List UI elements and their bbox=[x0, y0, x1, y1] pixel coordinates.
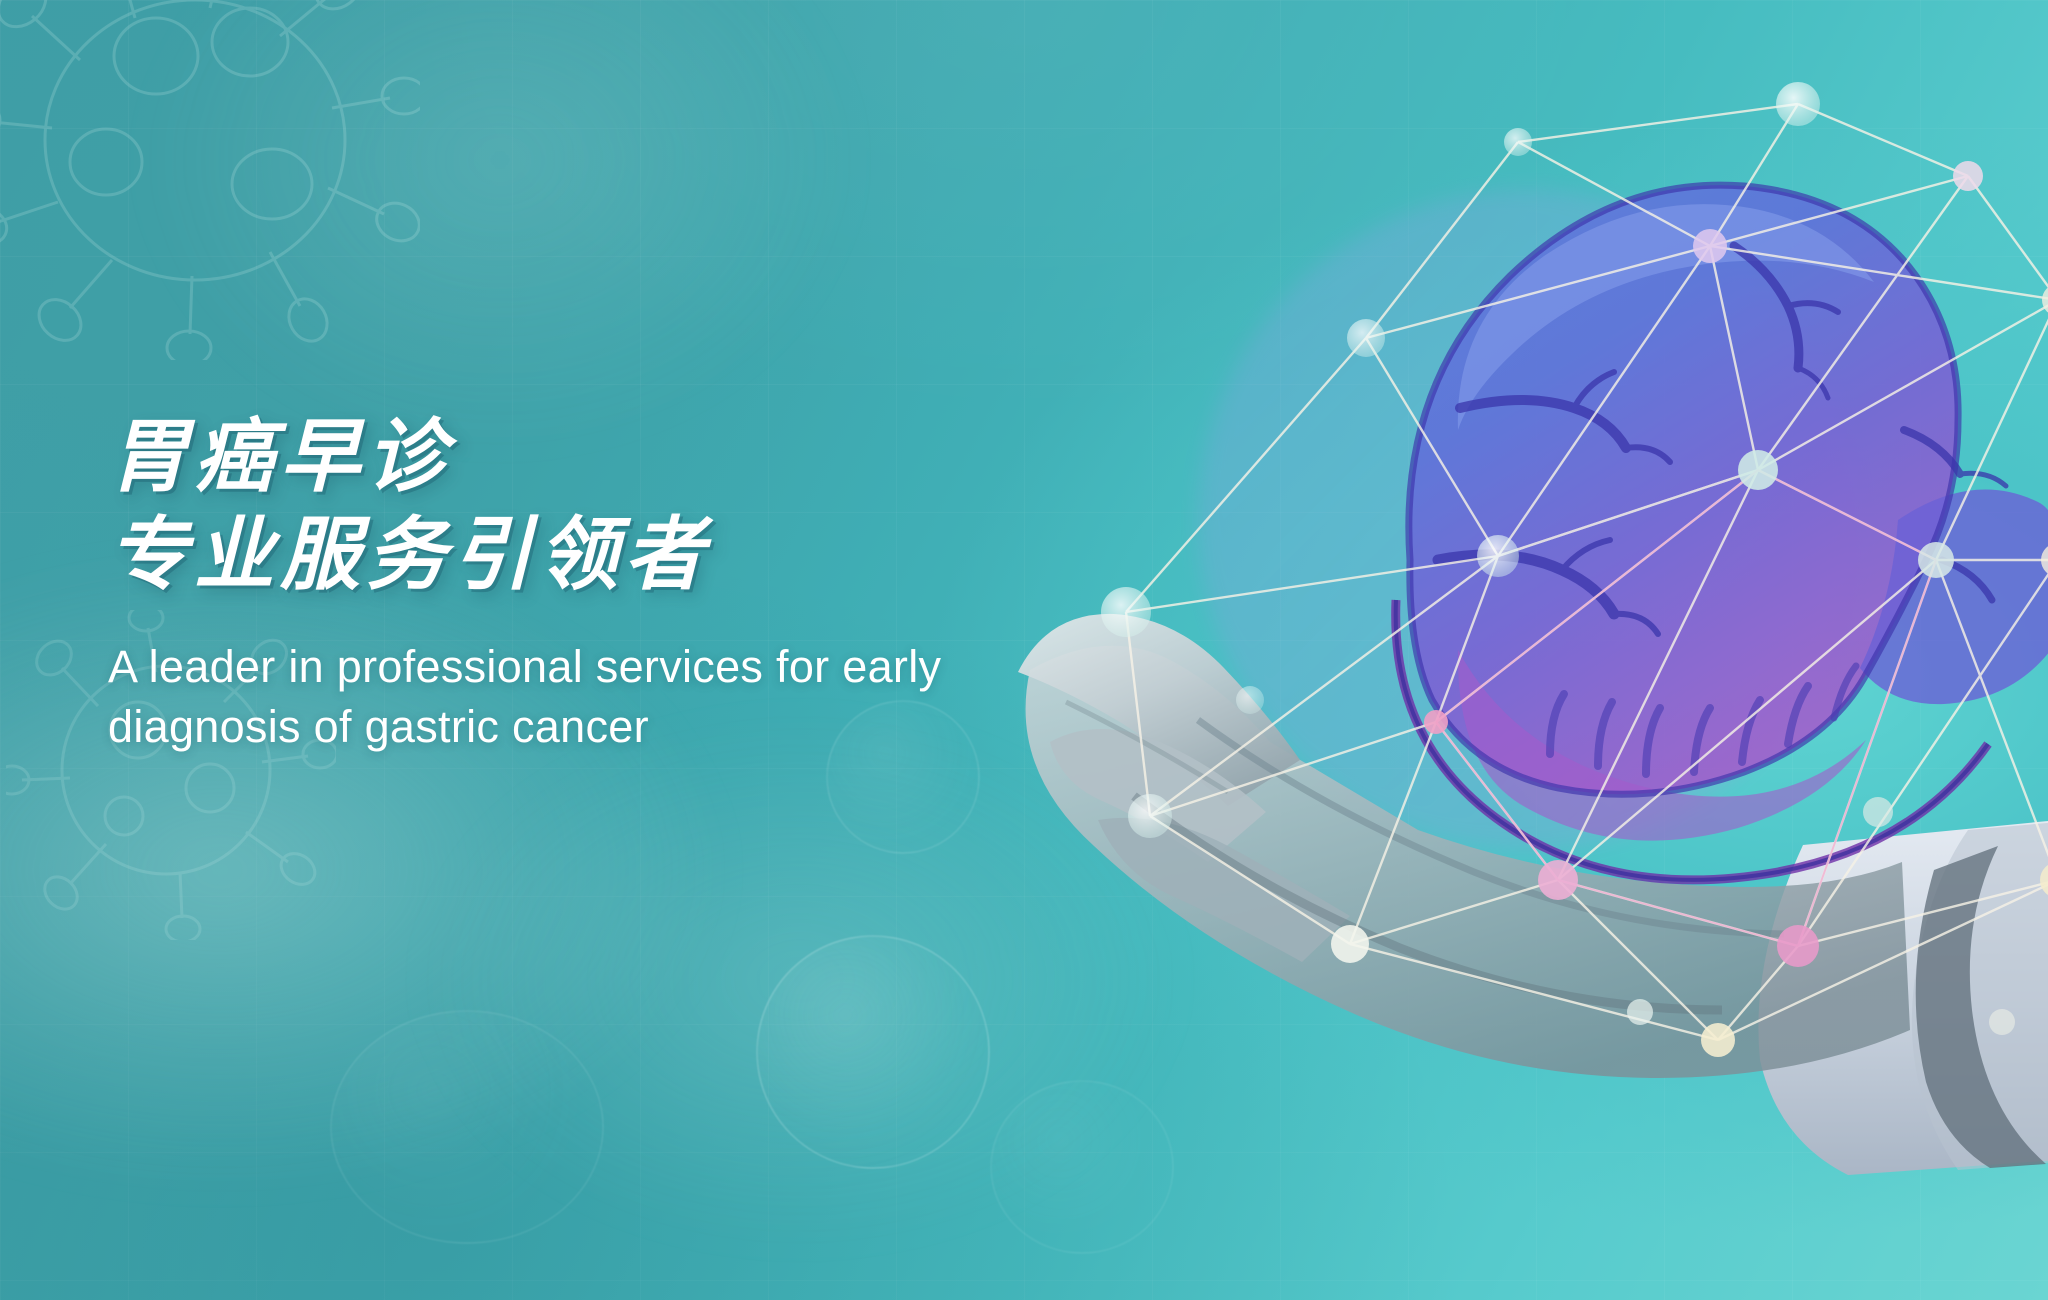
subheadline-line-1: A leader in professional services for ea… bbox=[108, 637, 1108, 697]
subheadline-line-2: diagnosis of gastric cancer bbox=[108, 697, 1108, 757]
copy-block: 胃癌早诊 专业服务引领者 A leader in professional se… bbox=[108, 408, 1108, 758]
headline-line-1: 胃癌早诊 bbox=[108, 412, 452, 501]
hero-banner: 胃癌早诊 专业服务引领者 A leader in professional se… bbox=[0, 0, 2048, 1300]
headline: 胃癌早诊 专业服务引领者 bbox=[108, 408, 1108, 603]
subheadline: A leader in professional services for ea… bbox=[108, 637, 1108, 758]
headline-line-2: 专业服务引领者 bbox=[108, 506, 1108, 604]
